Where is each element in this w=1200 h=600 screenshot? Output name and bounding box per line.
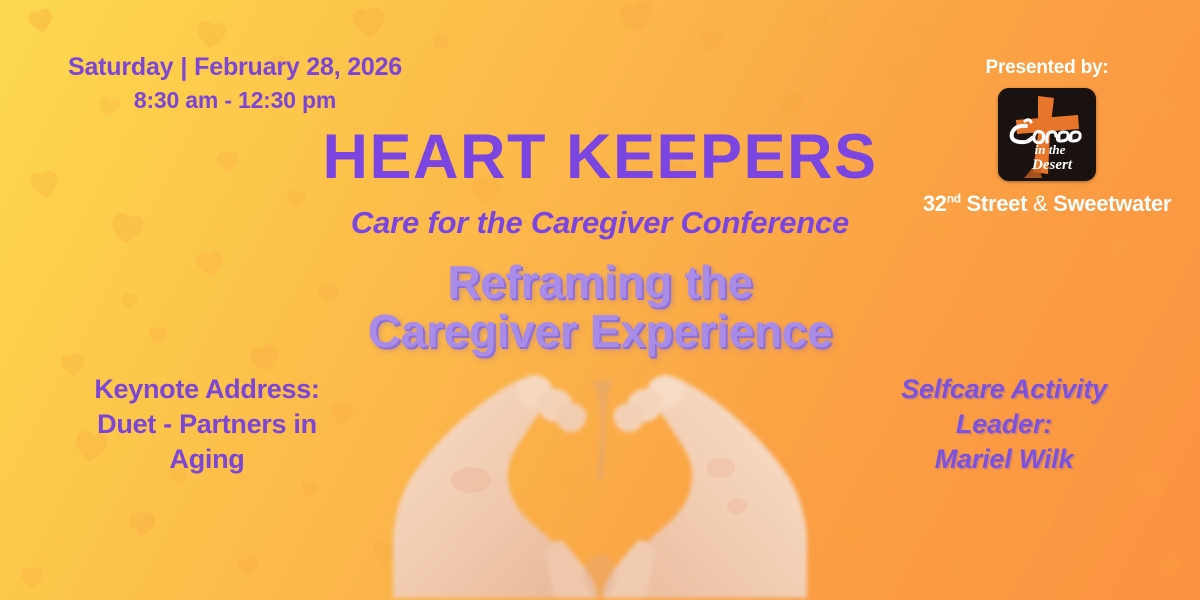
heart-shape-icon — [806, 10, 831, 35]
heart-shape-icon — [26, 6, 57, 37]
selfcare-label-line1: Selfcare Activity — [854, 372, 1154, 407]
keynote-speaker-line2: Aging — [52, 442, 362, 477]
date-separator: | — [173, 52, 194, 83]
heart-shape-icon — [127, 509, 158, 540]
keynote-label: Keynote Address: — [52, 372, 362, 407]
heart-shape-icon — [236, 554, 262, 580]
event-date: February 28, 2026 — [194, 53, 402, 81]
heart-shape-icon — [350, 4, 388, 42]
heart-shape-icon — [818, 436, 850, 468]
heart-shape-icon — [836, 518, 870, 552]
heart-shape-icon — [699, 29, 725, 55]
heart-shape-icon — [194, 18, 228, 52]
heart-shape-icon — [299, 479, 320, 500]
heart-shape-icon — [431, 33, 452, 54]
event-date-block: Saturday|February 28, 2026 8:30 am - 12:… — [0, 52, 470, 114]
heart-shape-icon — [616, 0, 657, 38]
event-subtitle: Care for the Caregiver Conference — [0, 207, 1200, 238]
hands-heart-photo — [385, 340, 815, 600]
heart-shape-icon — [19, 565, 45, 591]
keynote-speaker-line1: Duet - Partners in — [52, 407, 362, 442]
selfcare-leader-name: Mariel Wilk — [854, 442, 1154, 477]
heart-shape-icon — [947, 559, 969, 581]
event-title: HEART KEEPERS — [0, 126, 1200, 189]
presented-by-label: Presented by: — [912, 57, 1182, 79]
event-banner: Saturday|February 28, 2026 8:30 am - 12:… — [0, 0, 1200, 600]
event-theme-line1: Reframing the — [0, 258, 1200, 307]
keynote-block: Keynote Address: Duet - Partners in Agin… — [52, 372, 362, 477]
heart-shape-icon — [775, 89, 808, 122]
heart-shape-icon — [1028, 510, 1056, 538]
heart-shape-icon — [1158, 554, 1183, 579]
event-day: Saturday — [68, 53, 173, 81]
selfcare-label-line2: Leader: — [854, 407, 1154, 442]
venue-ordinal-suffix: nd — [947, 192, 961, 206]
event-date-line: Saturday|February 28, 2026 — [0, 52, 470, 83]
selfcare-block: Selfcare Activity Leader: Mariel Wilk — [854, 372, 1154, 477]
heart-shape-icon — [900, 14, 931, 45]
event-time: 8:30 am - 12:30 pm — [0, 86, 470, 114]
